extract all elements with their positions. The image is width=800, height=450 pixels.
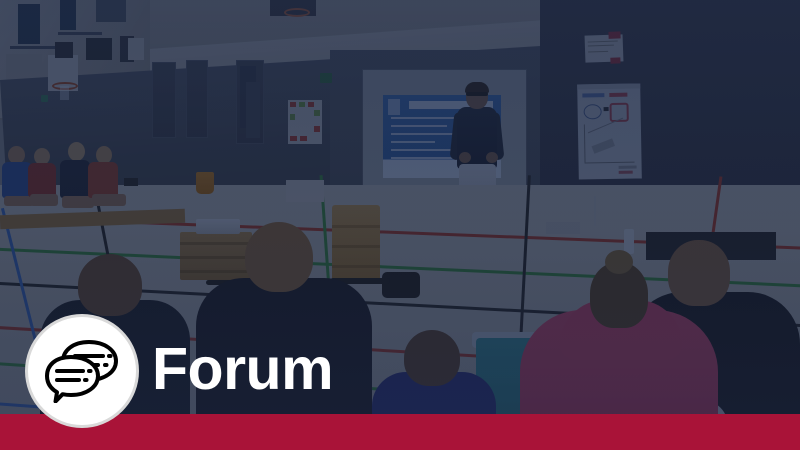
exit-sign-icon xyxy=(41,95,48,102)
flipchart-diagram xyxy=(584,104,602,119)
audience-person-left-head xyxy=(78,254,142,316)
flipchart-axis xyxy=(584,124,586,162)
forum-banner: Forum xyxy=(0,0,800,450)
wall-door xyxy=(152,62,176,138)
wall-box xyxy=(128,38,144,60)
flipchart-clip xyxy=(577,83,640,89)
presenter-hand-left xyxy=(459,152,471,163)
window xyxy=(18,4,40,44)
wall-note xyxy=(585,34,624,62)
equipment-box xyxy=(286,180,324,202)
vault-slat xyxy=(332,225,380,228)
slide-text-line xyxy=(391,125,447,127)
basketball-hoop-icon xyxy=(284,8,310,17)
poster-chip xyxy=(314,126,320,132)
orange-bucket xyxy=(196,172,214,194)
audience-person-right-head xyxy=(668,240,730,306)
vault-slat xyxy=(332,265,380,268)
slide-text-line xyxy=(391,149,459,151)
spectator-body xyxy=(88,162,118,198)
flipchart-footer xyxy=(619,171,633,174)
accent-bar xyxy=(0,414,800,450)
banner-title: Forum xyxy=(152,340,333,399)
window xyxy=(96,0,126,22)
crate-slat xyxy=(180,256,252,259)
slide-text-line xyxy=(391,141,435,143)
flipchart-text xyxy=(609,93,627,97)
door-glass xyxy=(246,82,260,138)
flipchart-footer xyxy=(619,166,637,169)
speech-bubbles-icon xyxy=(45,339,119,403)
wall-door xyxy=(186,60,208,138)
wall-speaker xyxy=(55,42,73,58)
note-marker xyxy=(610,57,620,63)
poster-chip xyxy=(300,136,307,141)
poster-chip xyxy=(290,102,296,107)
crate-slat xyxy=(180,270,252,273)
note-line xyxy=(588,51,608,53)
flipchart-axis xyxy=(585,162,635,164)
wooden-crate xyxy=(180,232,252,280)
flipchart-dot xyxy=(604,107,609,111)
vault-slat xyxy=(332,245,380,248)
balcony-railing xyxy=(58,32,102,35)
hanging-cable xyxy=(594,196,596,226)
audience-person-center-head xyxy=(245,222,313,292)
forum-badge xyxy=(25,314,139,428)
spectator-shoe xyxy=(124,178,138,186)
poster-chip xyxy=(314,110,320,116)
balcony-railing xyxy=(10,46,56,49)
poster-chip xyxy=(290,136,297,141)
presenter-glasses-icon xyxy=(466,92,488,96)
note-marker xyxy=(608,31,620,38)
flipchart-curve xyxy=(588,118,623,134)
note-line xyxy=(588,45,614,47)
vaulting-box xyxy=(332,205,380,283)
note-line xyxy=(588,41,618,43)
wall-socket xyxy=(546,222,580,234)
poster-chip xyxy=(308,102,314,107)
equipment-bag xyxy=(382,272,420,298)
crate-slat xyxy=(180,242,252,245)
spectator-legs xyxy=(30,194,58,206)
basketball-net-icon xyxy=(60,86,69,100)
spectator-head xyxy=(68,142,85,161)
flipchart-text xyxy=(582,93,604,97)
spectator-legs xyxy=(92,194,126,206)
wall-speaker xyxy=(86,38,112,60)
presenter-hand-right xyxy=(486,152,498,163)
spectator-body xyxy=(60,160,90,198)
sanitizer-bottle xyxy=(624,229,634,254)
projector xyxy=(196,219,240,234)
poster-chip xyxy=(299,102,305,107)
exit-sign-icon xyxy=(320,73,332,83)
spectator-body xyxy=(28,163,56,197)
flipchart xyxy=(577,83,642,179)
audience-person-blue-head xyxy=(404,330,460,386)
window xyxy=(60,0,76,30)
flipchart-label xyxy=(592,138,615,153)
wall-poster xyxy=(288,100,322,144)
poster-chip xyxy=(290,114,295,120)
slide-logo xyxy=(388,99,400,115)
audience-person-pink-hair-bun xyxy=(605,250,633,274)
